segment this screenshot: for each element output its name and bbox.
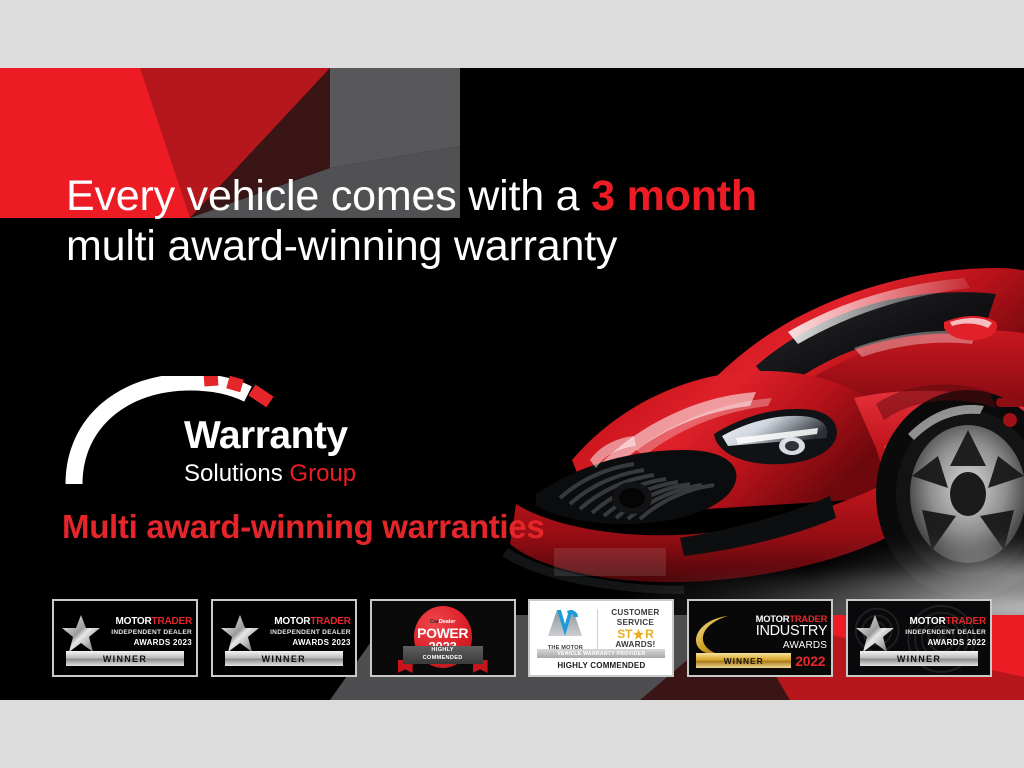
badge-brand-trader: TRADER — [789, 613, 827, 624]
badge-award-name: INDUSTRY — [727, 624, 827, 639]
headline-accent-text: 3 month — [591, 172, 757, 220]
badge-brand-trader: TRADER — [152, 616, 192, 627]
star-text-prefix: ST — [617, 628, 632, 640]
badge-result-text: WINNER — [262, 654, 306, 664]
badge-award-year: AWARDS 2022 — [894, 637, 986, 649]
badge-result-bar: WINNER — [225, 651, 343, 666]
logo-wordmark: Warranty Solutions Group — [184, 416, 356, 486]
badge-award-year: AWARDS 2023 — [100, 637, 192, 649]
badge-body: MOTORTRADER INDEPENDENT DEALER AWARDS 20… — [213, 601, 355, 675]
badge-brand-motor: MOTOR — [274, 616, 310, 627]
award-line-3: ST R — [601, 628, 669, 640]
badge-result-line-1: HIGHLY — [431, 647, 453, 655]
badge-text: MOTORTRADER INDEPENDENT DEALER AWARDS 20… — [894, 617, 986, 649]
badge-brand: MOTORTRADER — [259, 617, 351, 628]
badge-result-text: WINNER — [103, 654, 147, 664]
badge-result-bar: WINNER — [66, 651, 184, 666]
badge-bottom-row: WINNER 2022 — [696, 653, 825, 668]
badge-category: INDEPENDENT DEALER — [259, 628, 351, 638]
badge-category-bar: VEHICLE WARRANTY PROVIDER — [537, 649, 665, 658]
award-badge-motor-trader-dealer-2023-b[interactable]: MOTORTRADER INDEPENDENT DEALER AWARDS 20… — [211, 599, 357, 677]
badge-result-text: WINNER — [724, 656, 764, 666]
award-badge-car-dealer-power-2023[interactable]: CarDealer POWER 2023 HIGHLY COMMENDED — [370, 599, 516, 677]
badge-year: 2022 — [795, 654, 825, 668]
letterbox-bar-bottom — [0, 700, 1024, 768]
star-awards-block: CUSTOMER SERVICE ST R AWARDS! — [601, 608, 669, 650]
star-icon — [220, 614, 260, 654]
star-icon — [633, 629, 644, 640]
divider — [597, 609, 598, 653]
badge-award-type: AWARDS — [727, 640, 827, 652]
badge-brand-car: Car — [430, 619, 439, 625]
award-badges-row: MOTORTRADER INDEPENDENT DEALER AWARDS 20… — [52, 599, 992, 677]
badge-brand: MOTORTRADER — [894, 617, 986, 628]
badge-brand-motor: MOTOR — [756, 613, 790, 624]
headline-plain-text: Every vehicle comes with a — [66, 172, 591, 220]
badge-body: MOTORTRADER INDEPENDENT DEALER AWARDS 20… — [848, 601, 990, 675]
award-line-2: SERVICE — [601, 618, 669, 628]
badge-brand-dealer: Dealer — [439, 619, 456, 625]
badge-result-bar: HIGHLY COMMENDED — [403, 646, 483, 664]
badge-text: MOTORTRADER INDEPENDENT DEALER AWARDS 20… — [100, 617, 192, 649]
warranty-solutions-group-logo: Warranty Solutions Group — [62, 376, 392, 496]
badge-brand-trader: TRADER — [946, 616, 986, 627]
logo-word-group: Group — [289, 460, 356, 487]
badge-text: MOTORTRADER INDUSTRY AWARDS — [727, 614, 827, 652]
badge-brand-motor: MOTOR — [115, 616, 151, 627]
logo-word-warranty: Warranty — [184, 416, 356, 455]
award-badge-motor-trader-dealer-2023-a[interactable]: MOTORTRADER INDEPENDENT DEALER AWARDS 20… — [52, 599, 198, 677]
award-badge-motor-trader-dealer-2022[interactable]: MOTORTRADER INDEPENDENT DEALER AWARDS 20… — [846, 599, 992, 677]
award-line-1: CUSTOMER — [601, 608, 669, 618]
badge-award-name: POWER — [417, 626, 468, 640]
badge-text: MOTORTRADER INDEPENDENT DEALER AWARDS 20… — [259, 617, 351, 649]
logo-word-solutions: Solutions — [184, 460, 289, 487]
badge-body: THE MOTOR OMBUDSMAN CUSTOMER SERVICE ST — [530, 601, 672, 675]
badge-brand-trader: TRADER — [310, 616, 350, 627]
award-badge-motor-trader-industry-2022[interactable]: MOTORTRADER INDUSTRY AWARDS WINNER 2022 — [687, 599, 833, 677]
badge-body: MOTORTRADER INDUSTRY AWARDS WINNER 2022 — [689, 601, 831, 675]
badge-brand: MOTORTRADER — [100, 617, 192, 628]
badge-body: CarDealer POWER 2023 HIGHLY COMMENDED — [372, 601, 514, 675]
badge-result-line-2: COMMENDED — [423, 655, 463, 663]
award-badge-motor-ombudsman-star-awards[interactable]: THE MOTOR OMBUDSMAN CUSTOMER SERVICE ST — [528, 599, 674, 677]
badge-brand-motor: MOTOR — [909, 616, 945, 627]
badge-award-year: AWARDS 2023 — [259, 637, 351, 649]
badge-category-text: VEHICLE WARRANTY PROVIDER — [557, 651, 645, 657]
star-text-suffix: R — [645, 628, 653, 640]
badge-category: INDEPENDENT DEALER — [894, 628, 986, 638]
headline-line-1: Every vehicle comes with a 3 month — [66, 172, 856, 222]
star-icon — [61, 614, 101, 654]
headline-line-2: multi award-winning warranty — [66, 222, 856, 272]
promo-banner: Every vehicle comes with a 3 month multi… — [0, 68, 1024, 700]
badge-body: MOTORTRADER INDEPENDENT DEALER AWARDS 20… — [54, 601, 196, 675]
headline: Every vehicle comes with a 3 month multi… — [66, 172, 856, 272]
logo-word-solutions-group: Solutions Group — [184, 462, 356, 486]
star-icon — [855, 614, 895, 654]
badge-result-text: WINNER — [897, 654, 941, 664]
badge-result-bar: WINNER — [860, 651, 978, 666]
banner-viewport: Every vehicle comes with a 3 month multi… — [0, 0, 1024, 768]
letterbox-bar-top — [0, 0, 1024, 68]
badge-result-bar: WINNER — [696, 653, 791, 668]
motor-ombudsman-logo-icon — [545, 607, 585, 637]
badge-category: INDEPENDENT DEALER — [100, 628, 192, 638]
badge-result-text: HIGHLY COMMENDED — [530, 661, 672, 670]
tagline: Multi award-winning warranties — [62, 508, 544, 546]
